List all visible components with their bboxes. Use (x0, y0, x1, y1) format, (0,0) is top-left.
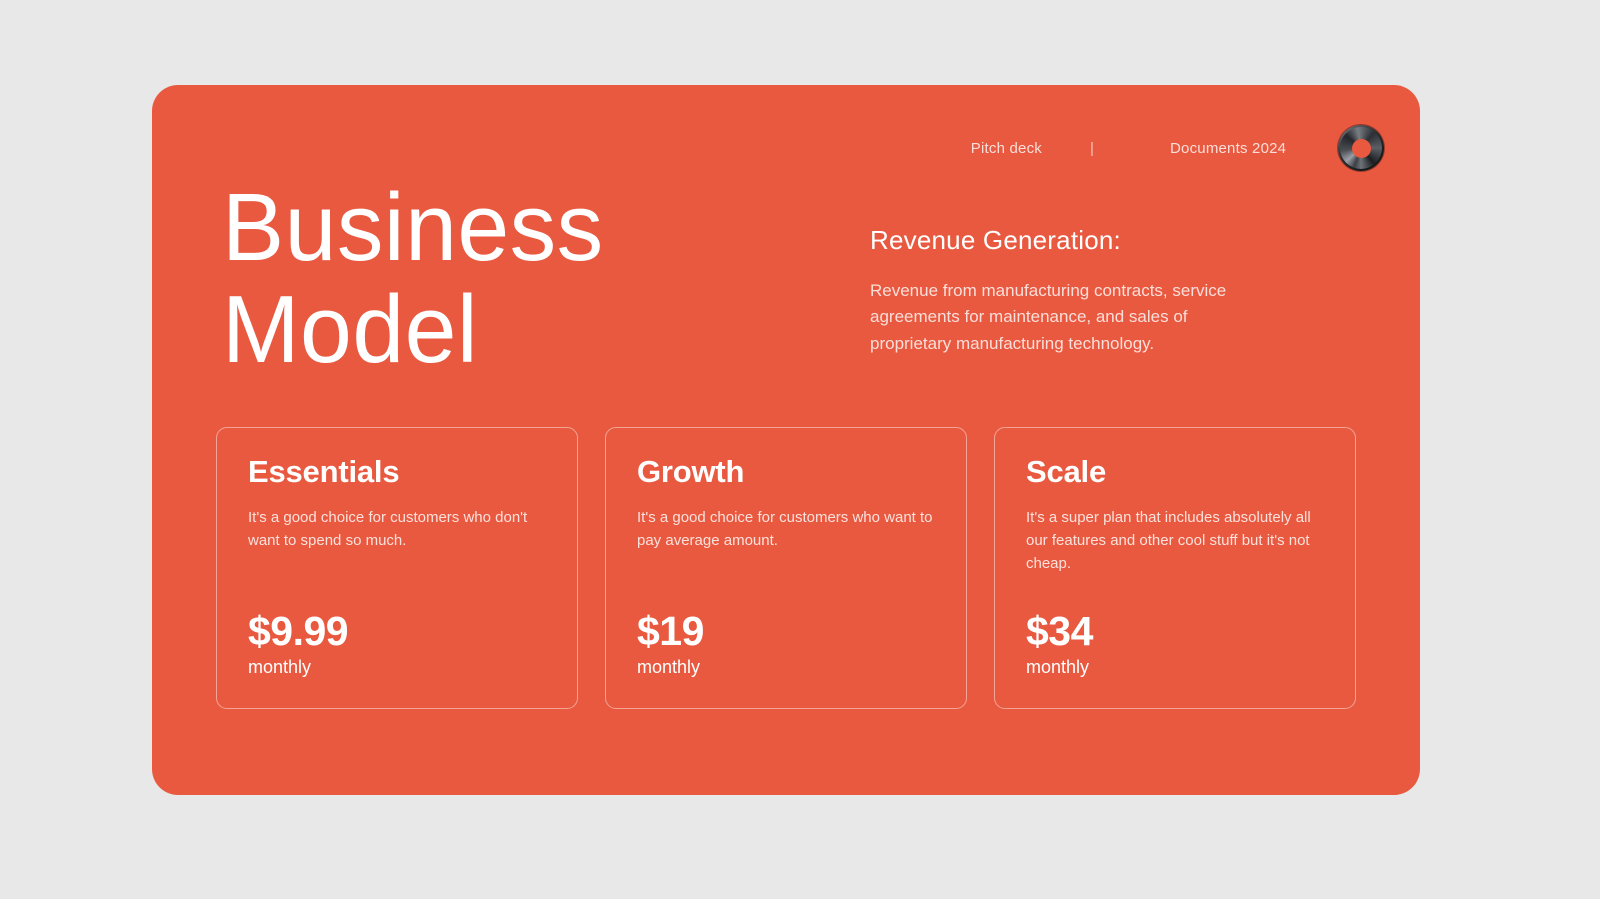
revenue-body-text: Revenue from manufacturing contracts, se… (870, 278, 1270, 357)
pricing-card-title: Growth (637, 454, 935, 490)
slide-panel: Pitch deck | Documents 2024 Business Mod… (152, 85, 1420, 795)
pricing-card-description: It's a good choice for customers who wan… (637, 507, 935, 553)
pricing-card-price-block: $9.99 monthly (248, 610, 348, 678)
pricing-card-price: $34 (1026, 610, 1093, 653)
pricing-card-description: It's a super plan that includes absolute… (1026, 507, 1324, 575)
pricing-card-scale[interactable]: Scale It's a super plan that includes ab… (994, 427, 1356, 709)
logo-inner-hole (1352, 139, 1371, 158)
pricing-card-title: Scale (1026, 454, 1324, 490)
pricing-card-price: $9.99 (248, 610, 348, 653)
revenue-generation-section: Revenue Generation: Revenue from manufac… (870, 225, 1270, 357)
pricing-card-period: monthly (1026, 657, 1093, 678)
pricing-card-price-block: $19 monthly (637, 610, 704, 678)
page-title-line-1: Business (222, 177, 604, 279)
header-pitch-deck-label[interactable]: Pitch deck (971, 140, 1042, 157)
pricing-card-growth[interactable]: Growth It's a good choice for customers … (605, 427, 967, 709)
pricing-cards-row: Essentials It's a good choice for custom… (216, 427, 1356, 709)
pricing-card-price: $19 (637, 610, 704, 653)
pricing-card-period: monthly (248, 657, 348, 678)
slide-header: Pitch deck | Documents 2024 (971, 125, 1384, 171)
page-title: Business Model (222, 177, 604, 381)
pricing-card-essentials[interactable]: Essentials It's a good choice for custom… (216, 427, 578, 709)
header-documents-label[interactable]: Documents 2024 (1142, 140, 1312, 157)
pricing-card-price-block: $34 monthly (1026, 610, 1093, 678)
revenue-heading: Revenue Generation: (870, 225, 1270, 256)
pricing-card-description: It's a good choice for customers who don… (248, 507, 546, 553)
metallic-ring-logo-icon (1338, 125, 1384, 171)
pricing-card-period: monthly (637, 657, 704, 678)
pricing-card-title: Essentials (248, 454, 546, 490)
page-title-line-2: Model (222, 279, 604, 381)
header-separator: | (1042, 140, 1142, 157)
